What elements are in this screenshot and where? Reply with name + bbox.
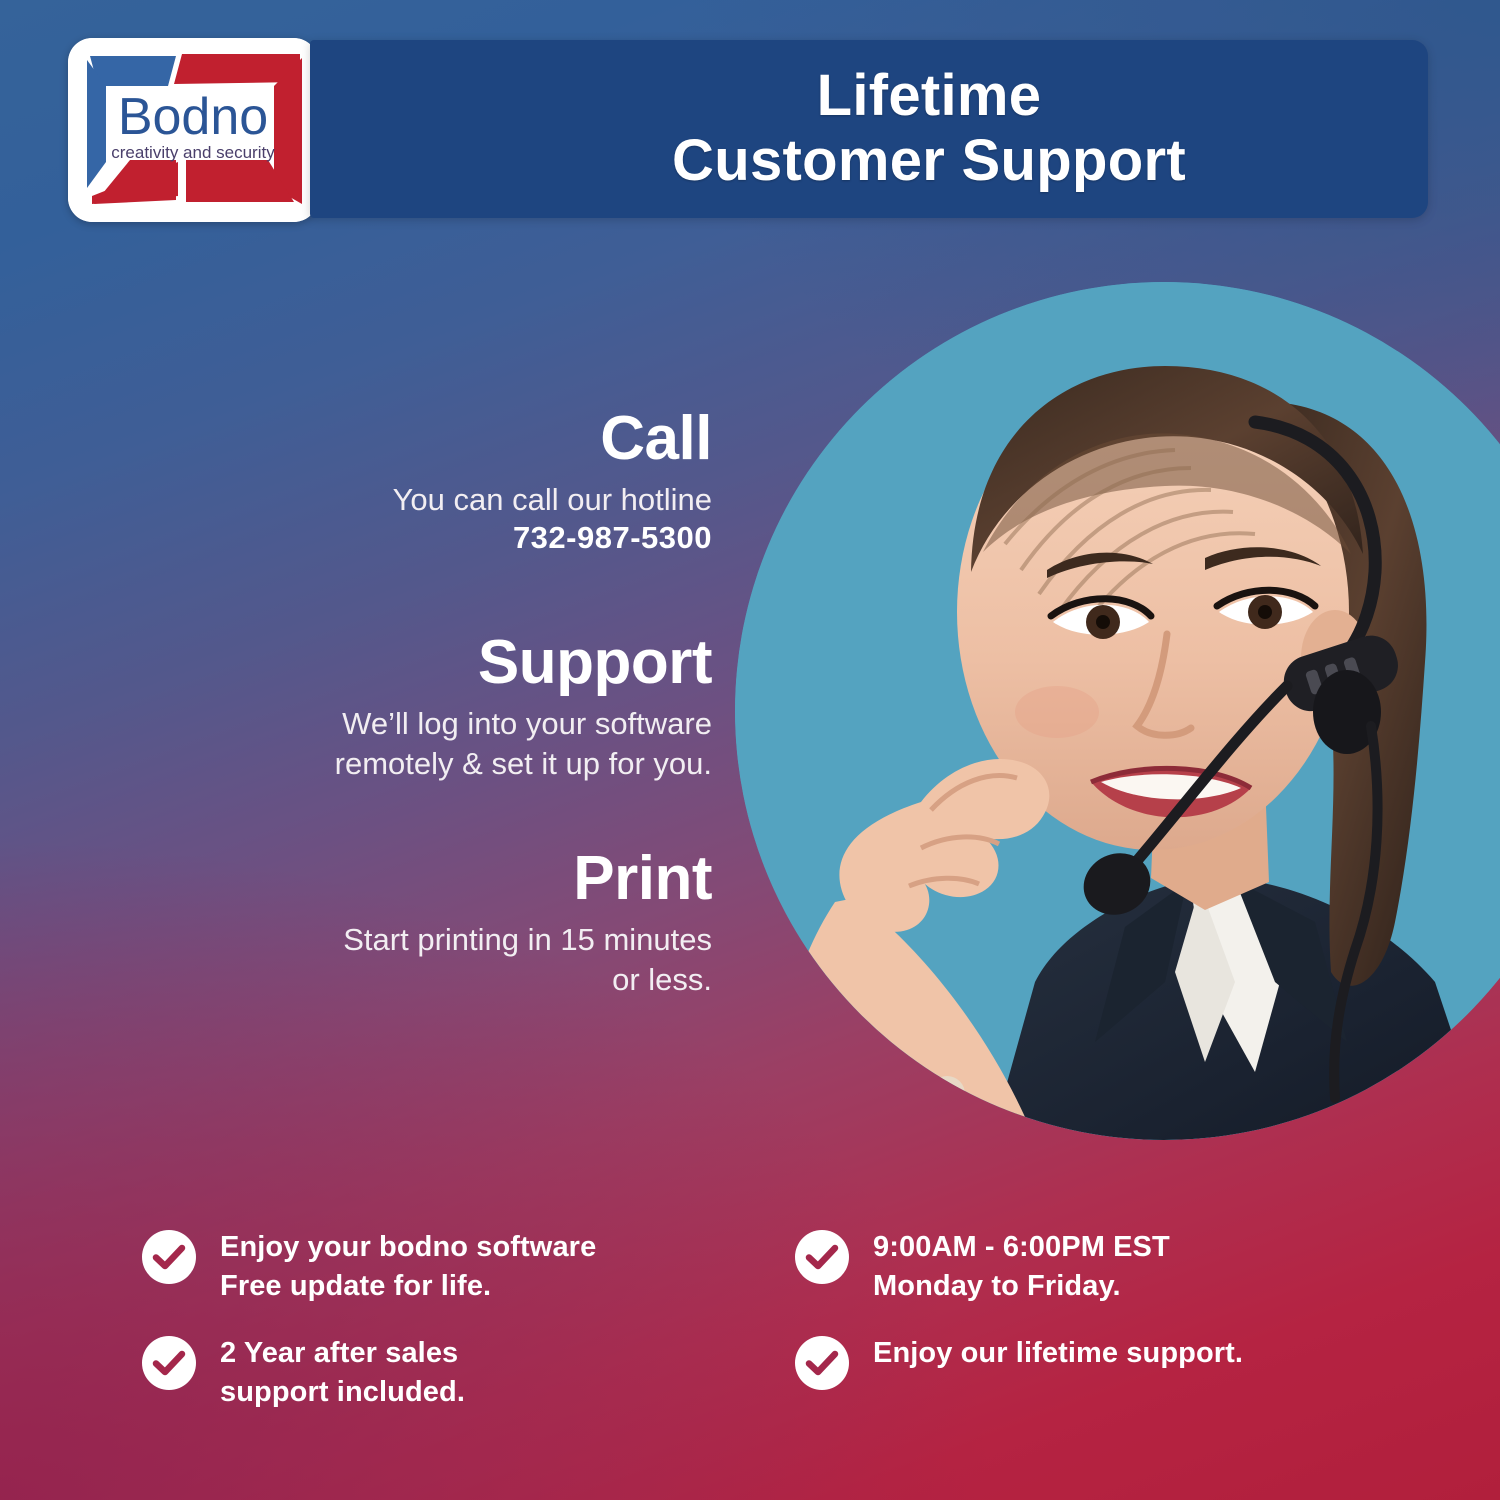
list-item-line1: Enjoy your bodno software xyxy=(220,1231,596,1263)
logo-wordmark: Bodno xyxy=(118,88,268,146)
feature-print-desc-line1: Start printing in 15 minutes xyxy=(152,920,712,960)
agent-photo-circle xyxy=(735,282,1500,1140)
feature-print-title: Print xyxy=(152,848,712,910)
feature-call-desc: You can call our hotline xyxy=(152,480,712,520)
list-item-text: Enjoy your bodno software Free update fo… xyxy=(220,1228,596,1306)
bodno-logo: Bodno creativity and security xyxy=(68,38,318,222)
page-title-line1: Lifetime xyxy=(672,64,1186,129)
list-item: Enjoy your bodno software Free update fo… xyxy=(142,1228,722,1306)
check-circle-icon xyxy=(142,1336,196,1390)
list-item-text: 9:00AM - 6:00PM EST Monday to Friday. xyxy=(873,1228,1170,1306)
agent-photo-illustration xyxy=(735,282,1500,1140)
list-item-line2: support included. xyxy=(220,1376,465,1408)
check-circle-icon xyxy=(795,1336,849,1390)
list-item: 2 Year after sales support included. xyxy=(142,1334,722,1412)
checklist-left: Enjoy your bodno software Free update fo… xyxy=(142,1228,722,1411)
list-item-text: Enjoy our lifetime support. xyxy=(873,1334,1243,1373)
feature-print: Print Start printing in 15 minutes or le… xyxy=(152,848,712,999)
feature-call-title: Call xyxy=(152,408,712,470)
page-title: Lifetime Customer Support xyxy=(552,64,1186,194)
check-circle-icon xyxy=(795,1230,849,1284)
feature-call: Call You can call our hotline 732-987-53… xyxy=(152,408,712,556)
logo-artwork: Bodno creativity and security xyxy=(68,38,318,222)
feature-support: Support We’ll log into your software rem… xyxy=(152,632,712,783)
list-item-line2: Free update for life. xyxy=(220,1270,491,1302)
checklist-right: 9:00AM - 6:00PM EST Monday to Friday. En… xyxy=(795,1228,1375,1390)
hotline-phone-number[interactable]: 732-987-5300 xyxy=(152,520,712,556)
logo-tagline-text: creativity and security xyxy=(111,143,275,162)
list-item-line1: 2 Year after sales xyxy=(220,1337,458,1369)
list-item: Enjoy our lifetime support. xyxy=(795,1334,1375,1390)
list-item-line2: Monday to Friday. xyxy=(873,1270,1121,1302)
list-item-line1: 9:00AM - 6:00PM EST xyxy=(873,1231,1170,1263)
list-item-line1: Enjoy our lifetime support. xyxy=(873,1337,1243,1369)
feature-support-title: Support xyxy=(152,632,712,694)
list-item-text: 2 Year after sales support included. xyxy=(220,1334,465,1412)
check-circle-icon xyxy=(142,1230,196,1284)
feature-support-desc-line1: We’ll log into your software xyxy=(152,704,712,744)
support-poster: Bodno creativity and security Lifetime C… xyxy=(0,0,1500,1500)
page-title-line2: Customer Support xyxy=(672,129,1186,194)
list-item: 9:00AM - 6:00PM EST Monday to Friday. xyxy=(795,1228,1375,1306)
agent-photo xyxy=(735,282,1500,1140)
header-banner: Lifetime Customer Support xyxy=(310,40,1428,218)
feature-support-desc-line2: remotely & set it up for you. xyxy=(152,744,712,784)
feature-print-desc-line2: or less. xyxy=(152,960,712,1000)
